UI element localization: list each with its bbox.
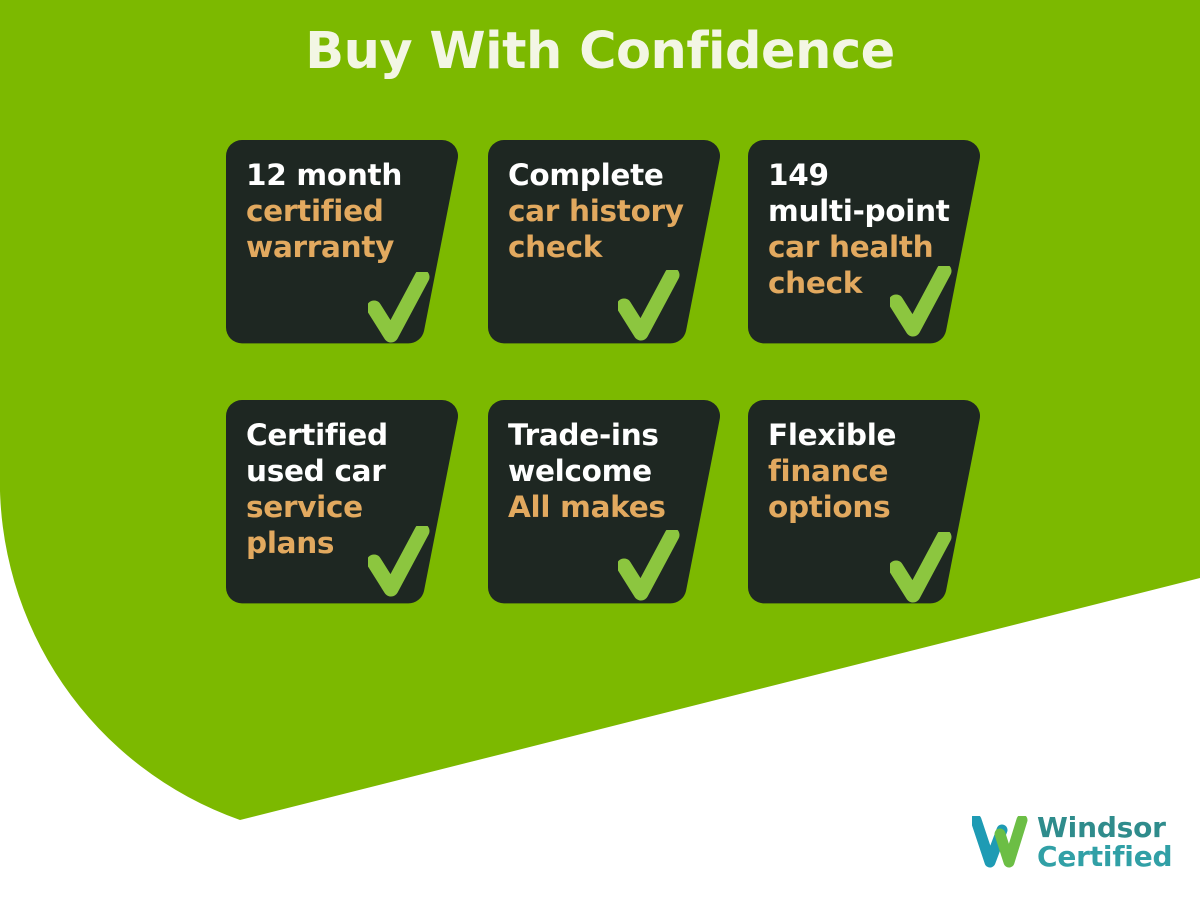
feature-card-trade-ins-welcome-all-makes[interactable]: Trade-ins welcome All makes bbox=[488, 400, 734, 610]
page-title: Buy With Confidence bbox=[0, 22, 1200, 81]
card-background-shape bbox=[748, 400, 994, 610]
feature-card-certified-used-car-service-plans[interactable]: Certified used car service plans bbox=[226, 400, 472, 610]
card-background-shape bbox=[488, 400, 734, 610]
green-check-icon bbox=[368, 272, 430, 346]
card-background-shape bbox=[748, 140, 994, 350]
green-check-icon bbox=[618, 530, 680, 604]
feature-card-complete-car-history-check[interactable]: Complete car history check bbox=[488, 140, 734, 350]
card-background-shape bbox=[226, 400, 472, 610]
brand-logo: Windsor Certified bbox=[972, 808, 1172, 878]
logo-line-certified: Certified bbox=[1037, 843, 1172, 872]
feature-card-12-month-certified-warranty[interactable]: 12 month certified warranty bbox=[226, 140, 472, 350]
logo-line-windsor: Windsor bbox=[1037, 814, 1172, 843]
feature-card-flexible-finance-options[interactable]: Flexible finance options bbox=[748, 400, 994, 610]
logo-wordmark: Windsor Certified bbox=[1037, 814, 1172, 872]
feature-card-grid: 12 month certified warranty Complete car… bbox=[226, 140, 976, 610]
green-check-icon bbox=[890, 266, 952, 340]
green-check-icon bbox=[890, 532, 952, 606]
card-background-shape bbox=[226, 140, 472, 350]
promo-graphic: Buy With Confidence 12 month certified w… bbox=[0, 0, 1200, 900]
green-check-icon bbox=[618, 270, 680, 344]
feature-card-149-multi-point-car-health-check[interactable]: 149 multi-point car health check bbox=[748, 140, 994, 350]
green-check-icon bbox=[368, 526, 430, 600]
windsor-w-icon bbox=[972, 816, 1028, 870]
card-background-shape bbox=[488, 140, 734, 350]
